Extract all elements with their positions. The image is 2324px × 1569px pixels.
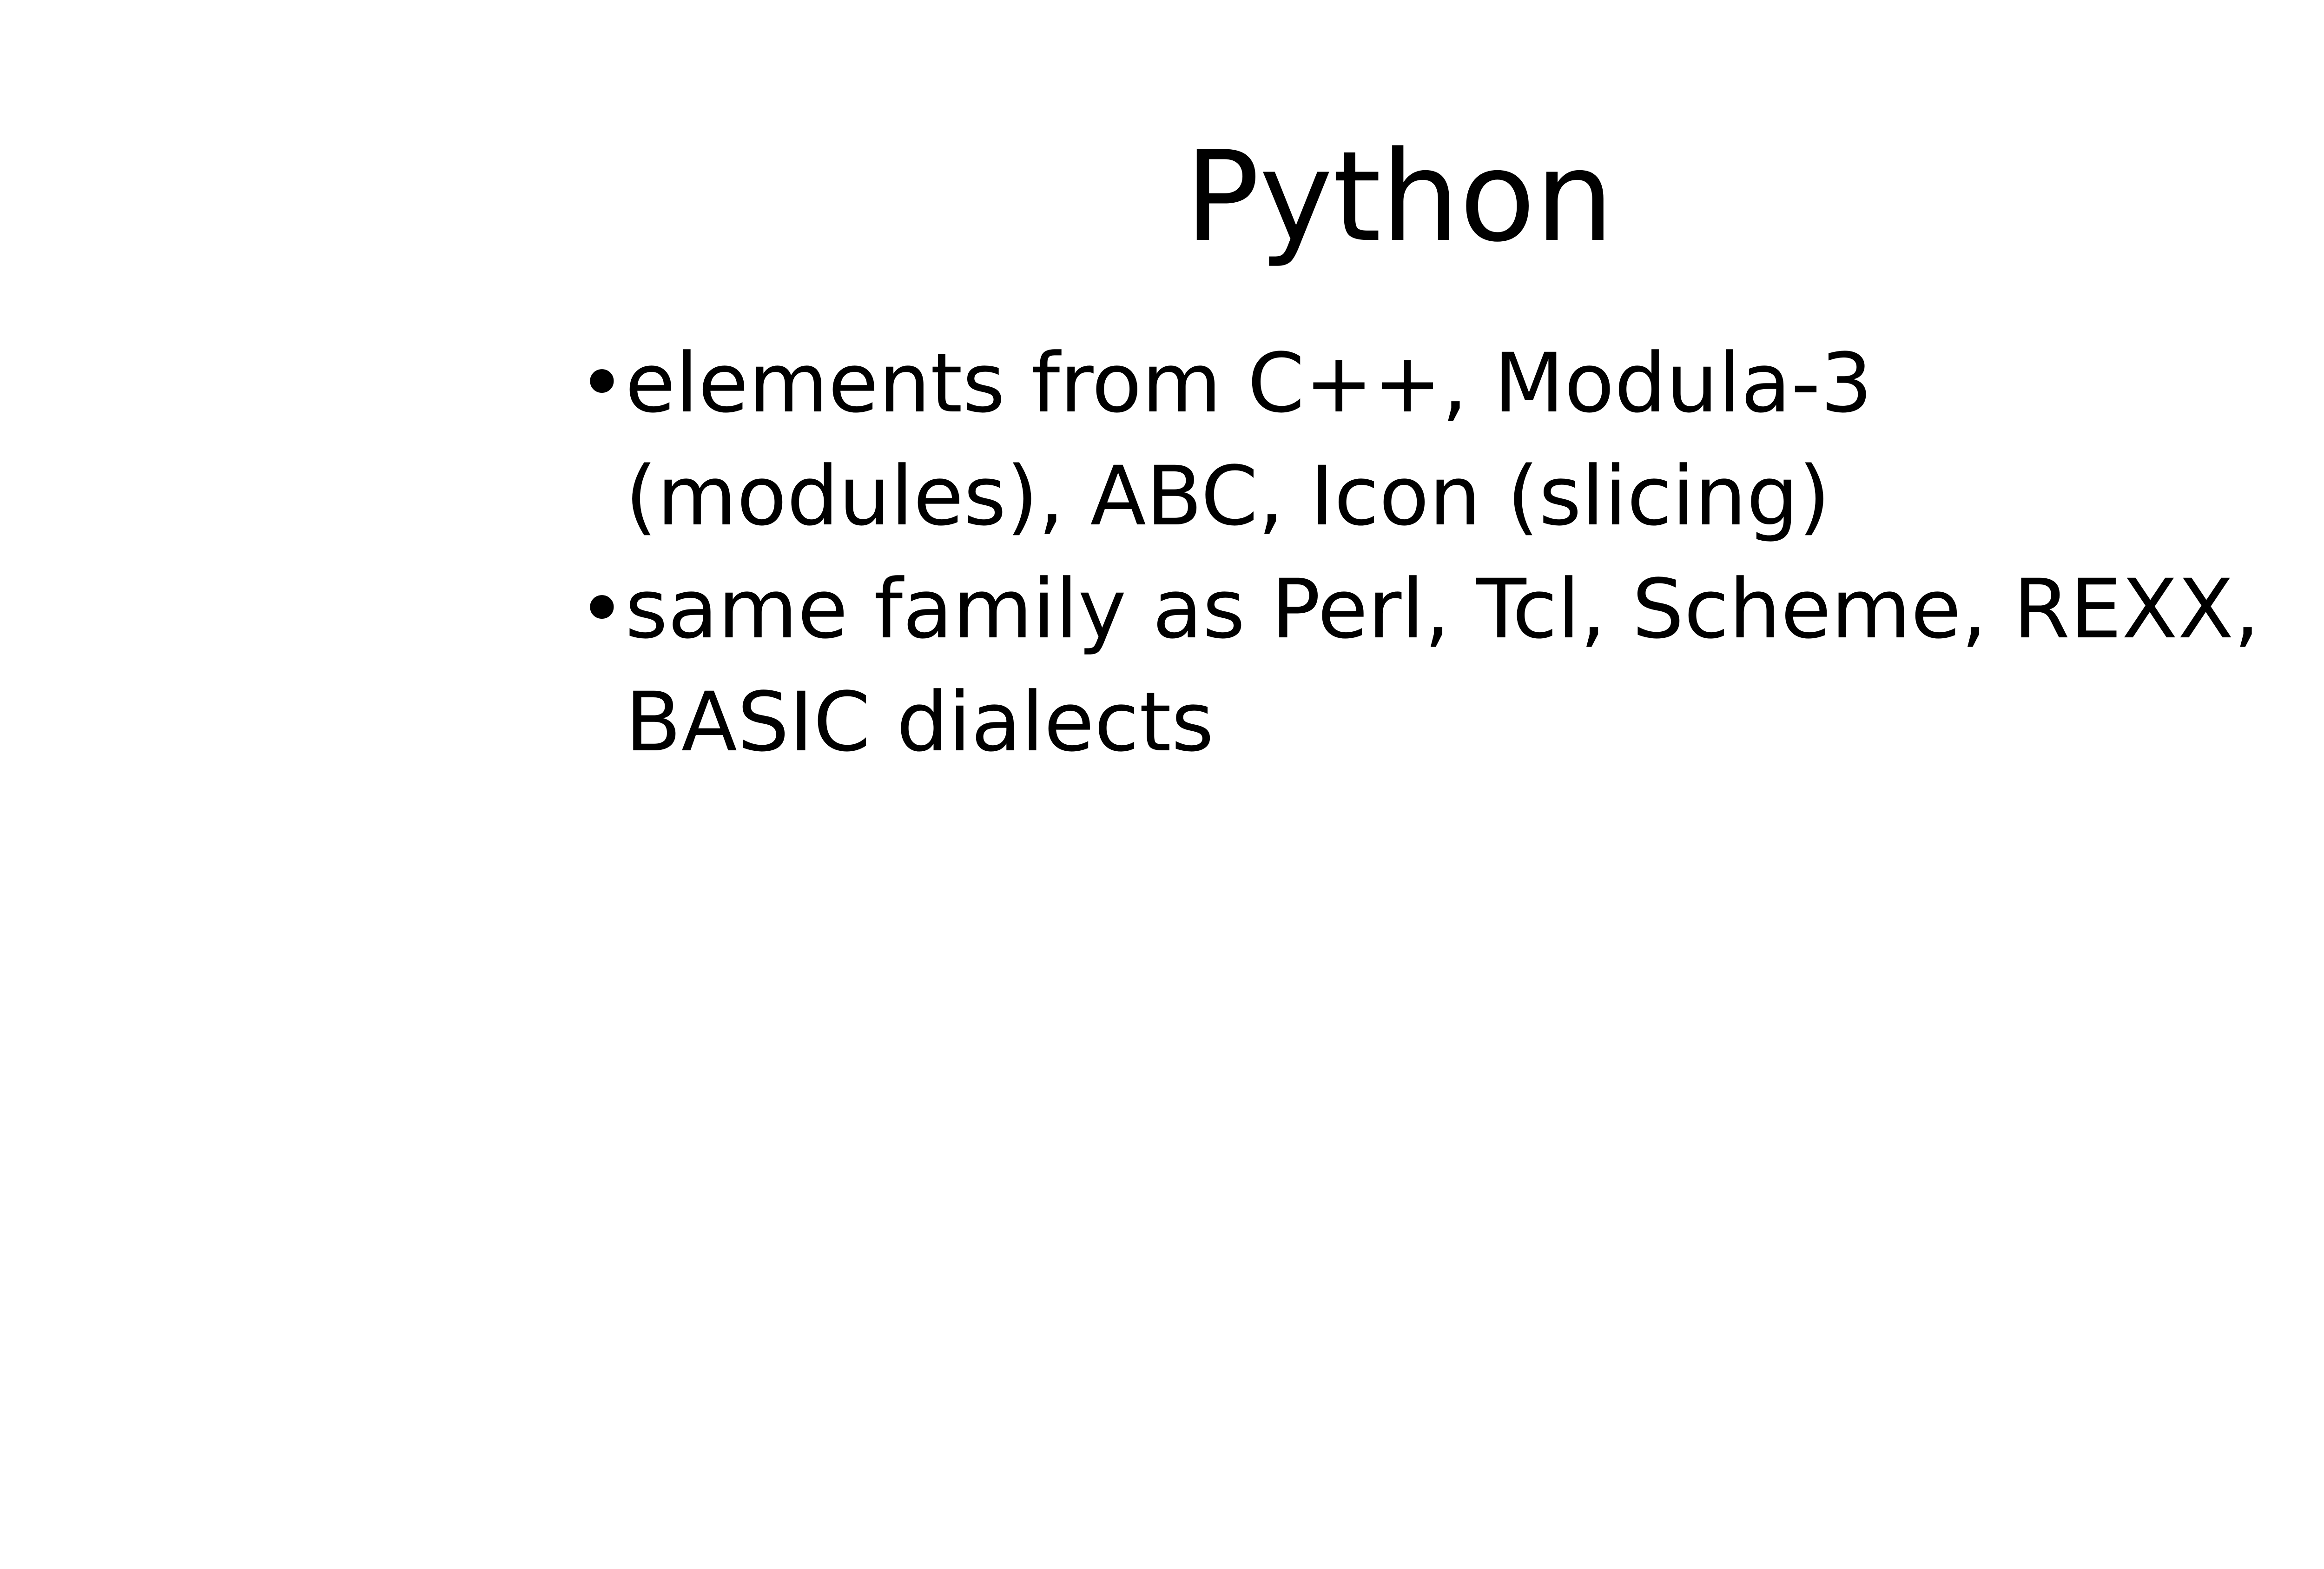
list-item-line: same family as Perl, Tcl, Scheme, REXX, bbox=[625, 553, 2324, 666]
list-item-text: elements from C++, Modula-3 (modules), A… bbox=[625, 327, 2324, 553]
list-item-line: elements from C++, Modula-3 bbox=[625, 327, 2324, 440]
slide-title-container: Python bbox=[0, 51, 2324, 343]
bullet-dot-icon: • bbox=[578, 553, 625, 666]
list-item-line: (modules), ABC, Icon (slicing) bbox=[625, 440, 2324, 553]
list-item-text: same family as Perl, Tcl, Scheme, REXX, … bbox=[625, 553, 2324, 779]
list-item-line: BASIC dialects bbox=[625, 666, 2324, 779]
slide-body-content: • elements from C++, Modula-3 (modules),… bbox=[578, 327, 2324, 779]
page-title: Python bbox=[1185, 135, 1614, 259]
list-item: • same family as Perl, Tcl, Scheme, REXX… bbox=[578, 553, 2324, 779]
presentation-slide: Python • elements from C++, Modula-3 (mo… bbox=[0, 0, 2324, 1569]
list-item: • elements from C++, Modula-3 (modules),… bbox=[578, 327, 2324, 553]
bullet-dot-icon: • bbox=[578, 327, 625, 440]
